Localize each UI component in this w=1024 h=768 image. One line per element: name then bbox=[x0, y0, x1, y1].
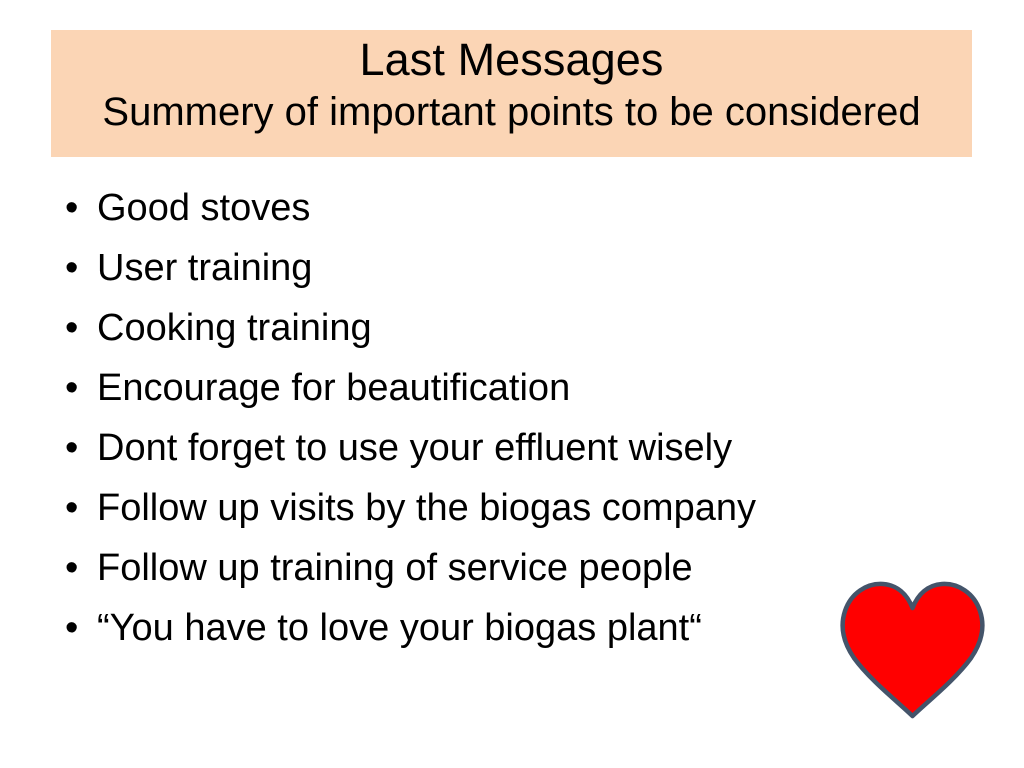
bullet-point-icon: • bbox=[60, 238, 97, 298]
list-item-label: Good stoves bbox=[97, 178, 310, 238]
heart-icon bbox=[840, 578, 985, 720]
bullet-point-icon: • bbox=[60, 418, 97, 478]
slide-canvas: Last Messages Summery of important point… bbox=[0, 0, 1024, 768]
list-item-label: Follow up visits by the biogas company bbox=[97, 478, 756, 538]
list-item: • “You have to love your biogas plant“ bbox=[60, 598, 860, 658]
list-item-label: Cooking training bbox=[97, 298, 372, 358]
bullet-point-icon: • bbox=[60, 478, 97, 538]
list-item-label: Dont forget to use your effluent wisely bbox=[97, 418, 732, 478]
list-item-label: User training bbox=[97, 238, 312, 298]
list-item: • Follow up visits by the biogas company bbox=[60, 478, 860, 538]
list-item-label: Follow up training of service people bbox=[97, 538, 693, 598]
list-item: • Encourage for beautification bbox=[60, 358, 860, 418]
bullet-list: • Good stoves • User training • Cooking … bbox=[60, 178, 860, 658]
list-item: • Cooking training bbox=[60, 298, 860, 358]
bullet-point-icon: • bbox=[60, 298, 97, 358]
bullet-point-icon: • bbox=[60, 358, 97, 418]
list-item-label: Encourage for beautification bbox=[97, 358, 570, 418]
bullet-point-icon: • bbox=[60, 598, 97, 658]
bullet-point-icon: • bbox=[60, 178, 97, 238]
page-subtitle: Summery of important points to be consid… bbox=[102, 86, 920, 138]
list-item: • Follow up training of service people bbox=[60, 538, 860, 598]
list-item: • User training bbox=[60, 238, 860, 298]
list-item-label: “You have to love your biogas plant“ bbox=[97, 598, 702, 658]
bullet-point-icon: • bbox=[60, 538, 97, 598]
list-item: • Dont forget to use your effluent wisel… bbox=[60, 418, 860, 478]
page-title: Last Messages bbox=[360, 32, 664, 88]
list-item: • Good stoves bbox=[60, 178, 860, 238]
title-banner: Last Messages Summery of important point… bbox=[51, 30, 972, 157]
